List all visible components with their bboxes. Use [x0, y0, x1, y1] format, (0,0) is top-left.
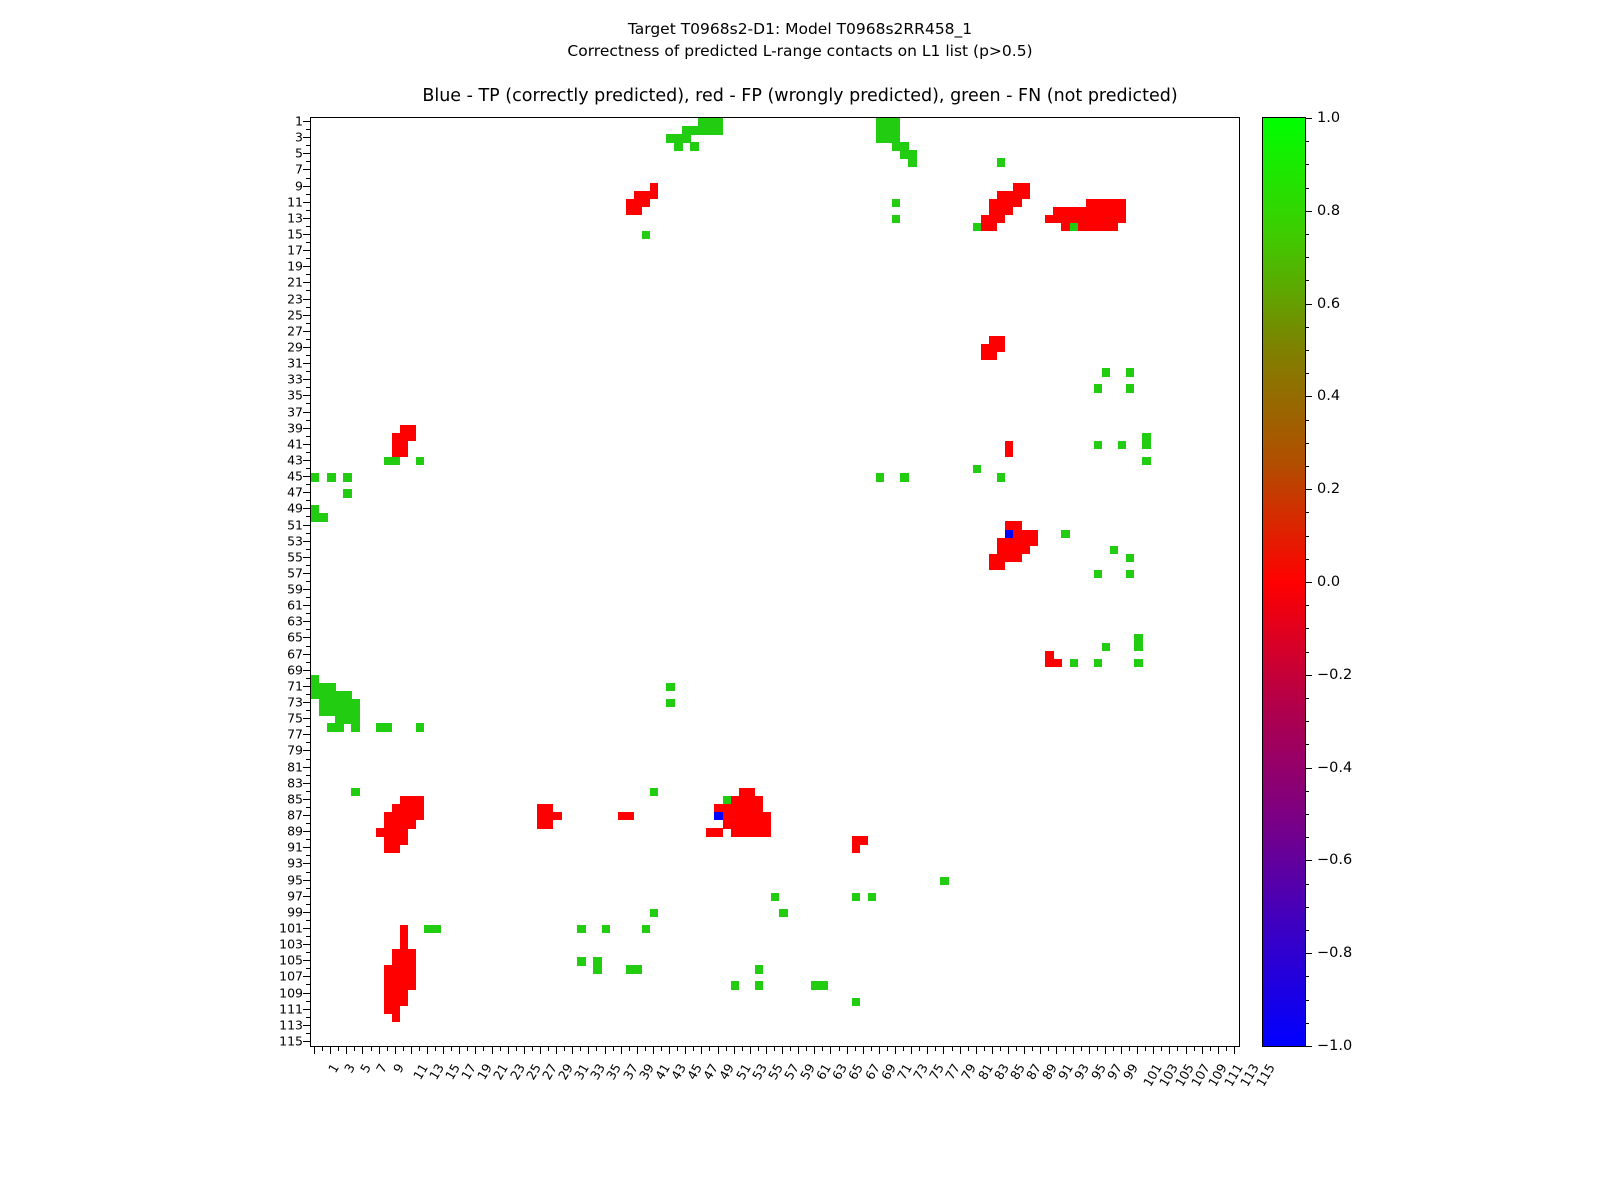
y-axis-tick-label: 109 — [279, 985, 303, 1000]
contact-cell — [1102, 643, 1110, 651]
x-axis-tick-label: 99 — [1120, 1061, 1141, 1082]
contact-cell — [1134, 659, 1142, 667]
y-axis-tick-label: 1 — [295, 114, 303, 129]
y-axis-tick — [303, 880, 310, 881]
y-axis-tick — [303, 637, 310, 638]
y-axis-tick — [303, 815, 310, 816]
y-axis-tick — [303, 153, 310, 154]
title-line-1: Target T0968s2-D1: Model T0968s2RR458_1 — [0, 18, 1600, 40]
contact-cell — [674, 142, 682, 150]
x-axis-tick — [758, 1047, 759, 1051]
contact-cell — [593, 957, 601, 974]
x-axis-tick — [1065, 1047, 1066, 1051]
contact-cell — [876, 473, 884, 481]
contact-cell — [343, 473, 351, 481]
contact-cell — [416, 457, 424, 465]
y-axis-tick-label: 115 — [279, 1033, 303, 1048]
contact-cells-layer — [311, 118, 1239, 1046]
colorbar-minor-tick — [1306, 744, 1309, 745]
contact-cell — [311, 513, 328, 521]
contact-cell — [1126, 570, 1134, 578]
x-axis-tick — [588, 1047, 589, 1054]
x-axis-tick — [1105, 1047, 1106, 1054]
x-axis-tick — [1129, 1047, 1130, 1051]
y-axis-tick — [303, 331, 310, 332]
contact-cell — [424, 925, 441, 933]
y-axis-tick — [303, 444, 310, 445]
y-axis-tick — [303, 1025, 310, 1026]
contact-cell — [868, 893, 876, 901]
x-axis-tick — [887, 1047, 888, 1051]
y-axis-tick-label: 85 — [287, 791, 303, 806]
x-axis-tick — [919, 1047, 920, 1051]
colorbar-minor-tick — [1306, 1000, 1309, 1001]
contact-cell — [731, 828, 772, 836]
x-axis-tick — [605, 1047, 606, 1054]
colorbar-tick-label: −0.8 — [1317, 945, 1352, 961]
contact-cell — [384, 457, 401, 465]
y-axis-tick-label: 93 — [287, 856, 303, 871]
x-axis-tick — [346, 1047, 347, 1054]
x-axis-tick — [1040, 1047, 1041, 1054]
x-axis-tick — [895, 1047, 896, 1054]
contact-cell — [1094, 570, 1102, 578]
y-axis-tick — [303, 525, 310, 526]
contact-cell — [327, 473, 335, 481]
contact-cell — [1142, 433, 1150, 450]
x-axis-tick-label: 9 — [390, 1061, 407, 1075]
x-axis-tick — [1073, 1047, 1074, 1054]
y-axis-tick-label: 17 — [287, 243, 303, 258]
contact-cell — [892, 199, 900, 207]
x-axis-tick — [1121, 1047, 1122, 1054]
contact-cell — [416, 723, 424, 731]
contact-cell — [343, 489, 351, 497]
x-axis-tick — [475, 1047, 476, 1054]
contact-cell — [714, 118, 722, 135]
colorbar-minor-tick — [1306, 976, 1309, 977]
x-axis-tick — [952, 1047, 953, 1051]
x-axis-tick — [419, 1047, 420, 1051]
y-axis-tick-label: 73 — [287, 695, 303, 710]
y-axis-tick — [303, 783, 310, 784]
x-axis-tick — [500, 1047, 501, 1051]
contact-cell — [1110, 546, 1118, 554]
x-axis-tick — [314, 1047, 315, 1054]
x-axis-tick — [1048, 1047, 1049, 1051]
x-axis-tick — [1177, 1047, 1178, 1051]
y-axis-tick-label: 51 — [287, 517, 303, 532]
contact-cell — [690, 142, 698, 150]
y-axis-tick — [303, 266, 310, 267]
y-axis-tick — [303, 589, 310, 590]
y-axis-tick — [303, 492, 310, 493]
y-axis-tick — [303, 541, 310, 542]
x-axis-tick — [354, 1047, 355, 1051]
contact-cell — [577, 925, 585, 933]
x-axis-tick — [1000, 1047, 1001, 1051]
contact-cell — [900, 473, 908, 481]
x-axis-tick — [976, 1047, 977, 1054]
colorbar-minor-tick — [1306, 768, 1309, 769]
contact-cell — [1126, 384, 1134, 392]
y-axis-tick-label: 47 — [287, 485, 303, 500]
contact-cell — [997, 473, 1005, 481]
colorbar-gradient — [1262, 117, 1306, 1047]
contact-cell — [650, 909, 658, 917]
x-axis-tick — [790, 1047, 791, 1051]
x-axis-tick — [677, 1047, 678, 1051]
colorbar-minor-tick — [1306, 188, 1309, 189]
colorbar-tick-label: 0.6 — [1317, 296, 1340, 312]
colorbar-minor-tick — [1306, 234, 1309, 235]
y-axis-tick-label: 25 — [287, 307, 303, 322]
y-axis-tick-label: 3 — [295, 130, 303, 145]
x-axis-tick — [669, 1047, 670, 1054]
colorbar-tick-label: 0.0 — [1317, 574, 1340, 590]
x-axis-tick — [1113, 1047, 1114, 1051]
y-axis-tick-label: 35 — [287, 388, 303, 403]
y-axis-tick — [303, 379, 310, 380]
x-axis-tick — [459, 1047, 460, 1054]
contact-cell — [537, 820, 554, 828]
colorbar-minor-tick — [1306, 280, 1309, 281]
y-axis-tick-label: 99 — [287, 904, 303, 919]
contact-cell — [755, 981, 763, 989]
x-axis-tick — [879, 1047, 880, 1054]
y-axis-tick — [303, 912, 310, 913]
y-axis-tick — [303, 896, 310, 897]
x-axis-tick — [960, 1047, 961, 1054]
contact-cell — [666, 699, 674, 707]
y-axis-tick-label: 79 — [287, 743, 303, 758]
contact-cell — [940, 877, 948, 885]
colorbar-tick-label: 0.8 — [1317, 203, 1340, 219]
colorbar-minor-tick — [1306, 605, 1309, 606]
y-axis-tick — [303, 218, 310, 219]
colorbar-tick-label: −1.0 — [1317, 1038, 1352, 1054]
x-axis-tick — [871, 1047, 872, 1051]
contact-cell — [997, 158, 1005, 166]
contact-cell — [327, 723, 344, 731]
x-axis-tick — [492, 1047, 493, 1054]
x-axis-tick — [338, 1047, 339, 1051]
x-axis-tick — [613, 1047, 614, 1051]
y-axis-tick-label: 103 — [279, 937, 303, 952]
colorbar-tick-label: −0.6 — [1317, 852, 1352, 868]
y-axis-tick — [303, 863, 310, 864]
y-axis-tick — [303, 395, 310, 396]
y-axis-tick — [303, 234, 310, 235]
y-axis-tick-label: 87 — [287, 808, 303, 823]
x-axis-tick — [1226, 1047, 1227, 1051]
x-axis-tick — [693, 1047, 694, 1051]
y-axis-tick-label: 53 — [287, 533, 303, 548]
y-axis-tick-label: 49 — [287, 501, 303, 516]
x-axis-tick — [911, 1047, 912, 1054]
colorbar-minor-tick — [1306, 118, 1309, 119]
contact-cell — [706, 828, 723, 836]
contact-cell — [626, 207, 643, 215]
x-axis-tick — [330, 1047, 331, 1054]
x-axis-tick — [572, 1047, 573, 1054]
x-axis-tick — [532, 1047, 533, 1051]
x-axis-tick — [1161, 1047, 1162, 1051]
colorbar-minor-tick — [1306, 791, 1309, 792]
colorbar-minor-tick — [1306, 1046, 1309, 1047]
x-axis-tick — [427, 1047, 428, 1054]
y-axis-tick-label: 75 — [287, 711, 303, 726]
y-axis-tick — [303, 750, 310, 751]
y-axis-tick-label: 113 — [279, 1017, 303, 1032]
x-axis-tick — [322, 1047, 323, 1051]
y-axis-tick — [303, 347, 310, 348]
y-axis-tick-label: 63 — [287, 614, 303, 629]
x-axis-tick — [637, 1047, 638, 1054]
y-axis-tick-label: 41 — [287, 436, 303, 451]
contact-cell — [892, 215, 900, 223]
y-axis-tick — [303, 976, 310, 977]
x-axis-tick — [564, 1047, 565, 1051]
colorbar-minor-tick — [1306, 930, 1309, 931]
y-axis-tick — [303, 250, 310, 251]
y-axis-tick — [303, 960, 310, 961]
x-axis-tick — [371, 1047, 372, 1051]
x-axis-tick — [943, 1047, 944, 1054]
x-axis-tick — [580, 1047, 581, 1051]
y-axis-tick — [303, 299, 310, 300]
colorbar-minor-tick — [1306, 512, 1309, 513]
y-axis-tick — [303, 605, 310, 606]
colorbar-minor-tick — [1306, 559, 1309, 560]
y-axis-tick-label: 11 — [287, 194, 303, 209]
x-axis-tick — [774, 1047, 775, 1051]
contact-cell — [1134, 643, 1142, 651]
colorbar-minor-tick — [1306, 721, 1309, 722]
y-axis-tick — [303, 734, 310, 735]
contact-cell — [811, 981, 828, 989]
y-axis-tick-label: 23 — [287, 291, 303, 306]
colorbar-minor-tick — [1306, 698, 1309, 699]
x-axis-tick — [750, 1047, 751, 1054]
y-axis-tick — [303, 169, 310, 170]
colorbar-minor-tick — [1306, 466, 1309, 467]
y-axis-tick-label: 57 — [287, 565, 303, 580]
x-axis-tick — [903, 1047, 904, 1051]
y-axis-tick-label: 101 — [279, 920, 303, 935]
plot-subtitle-legend: Blue - TP (correctly predicted), red - F… — [0, 86, 1600, 106]
x-axis-tick — [1097, 1047, 1098, 1051]
x-axis-tick — [508, 1047, 509, 1054]
y-axis-tick — [303, 621, 310, 622]
contact-cell — [908, 158, 916, 166]
y-axis-tick-label: 67 — [287, 646, 303, 661]
x-axis-tick — [1234, 1047, 1235, 1054]
y-axis-tick-label: 45 — [287, 469, 303, 484]
colorbar-minor-tick — [1306, 652, 1309, 653]
y-axis-tick-label: 59 — [287, 582, 303, 597]
contact-cell — [311, 473, 319, 481]
x-axis-tick — [403, 1047, 404, 1051]
contact-cell — [1045, 659, 1062, 667]
contact-cell — [852, 893, 860, 901]
y-axis-tick-label: 91 — [287, 840, 303, 855]
colorbar-minor-tick — [1306, 489, 1309, 490]
x-axis-tick — [814, 1047, 815, 1054]
colorbar-minor-tick — [1306, 211, 1309, 212]
x-axis-tick — [435, 1047, 436, 1051]
y-axis-tick — [303, 767, 310, 768]
y-axis-tick — [303, 573, 310, 574]
y-axis-tick-label: 55 — [287, 549, 303, 564]
contact-cell — [771, 893, 779, 901]
y-axis-tick-label: 65 — [287, 630, 303, 645]
x-axis-tick — [1056, 1047, 1057, 1054]
colorbar-minor-tick — [1306, 373, 1309, 374]
contact-cell — [1126, 368, 1134, 376]
y-axis-tick-label: 83 — [287, 775, 303, 790]
contact-cell — [626, 965, 643, 973]
x-axis: 1357911131517192123252729313335373941434… — [310, 1047, 1240, 1157]
x-axis-tick — [927, 1047, 928, 1054]
colorbar-minor-tick — [1306, 628, 1309, 629]
contact-cell — [973, 465, 981, 473]
y-axis-tick-label: 97 — [287, 888, 303, 903]
contact-map-plot[interactable] — [310, 117, 1240, 1047]
y-axis-tick — [303, 508, 310, 509]
contact-cell — [981, 352, 998, 360]
x-axis-tick — [782, 1047, 783, 1054]
y-axis-tick-label: 105 — [279, 953, 303, 968]
y-axis-tick — [303, 1041, 310, 1042]
x-axis-tick — [483, 1047, 484, 1051]
y-axis-tick — [303, 654, 310, 655]
y-axis-tick — [303, 186, 310, 187]
y-axis-tick — [303, 363, 310, 364]
contact-cell — [1118, 441, 1126, 449]
y-axis-tick — [303, 202, 310, 203]
y-axis-tick-label: 13 — [287, 210, 303, 225]
colorbar-minor-tick — [1306, 141, 1309, 142]
x-axis-tick — [395, 1047, 396, 1054]
x-axis-tick — [362, 1047, 363, 1054]
x-axis-tick — [596, 1047, 597, 1051]
x-axis-tick — [830, 1047, 831, 1054]
y-axis-tick-label: 111 — [279, 1001, 303, 1016]
contact-cell — [666, 683, 674, 691]
y-axis-tick-label: 107 — [279, 969, 303, 984]
contact-cell — [602, 925, 610, 933]
y-axis-tick — [303, 412, 310, 413]
y-axis-tick — [303, 831, 310, 832]
x-axis-tick — [411, 1047, 412, 1054]
colorbar-minor-tick — [1306, 164, 1309, 165]
contact-cell — [1070, 223, 1078, 231]
y-axis-tick-label: 19 — [287, 259, 303, 274]
colorbar-minor-tick — [1306, 350, 1309, 351]
y-axis-tick-label: 77 — [287, 727, 303, 742]
y-axis-tick-label: 61 — [287, 598, 303, 613]
y-axis-tick — [303, 670, 310, 671]
x-axis-tick — [968, 1047, 969, 1051]
x-axis-tick — [1145, 1047, 1146, 1051]
y-axis-tick-label: 29 — [287, 339, 303, 354]
x-axis-tick-label: 5 — [357, 1061, 374, 1075]
colorbar-minor-tick — [1306, 327, 1309, 328]
x-axis-tick — [1186, 1047, 1187, 1054]
colorbar-minor-tick — [1306, 675, 1309, 676]
x-axis-tick — [548, 1047, 549, 1051]
x-axis-tick — [709, 1047, 710, 1051]
x-axis-tick — [645, 1047, 646, 1051]
colorbar-minor-tick — [1306, 814, 1309, 815]
contact-cell — [392, 1014, 400, 1022]
y-axis-tick — [303, 799, 310, 800]
colorbar-minor-tick — [1306, 536, 1309, 537]
y-axis-tick — [303, 928, 310, 929]
y-axis-tick — [303, 460, 310, 461]
colorbar-tick-label: −0.2 — [1317, 667, 1352, 683]
x-axis-tick — [556, 1047, 557, 1054]
x-axis-tick — [387, 1047, 388, 1051]
contact-cell — [731, 981, 739, 989]
x-axis-tick — [742, 1047, 743, 1051]
x-axis-tick — [992, 1047, 993, 1054]
contact-cell — [852, 844, 860, 852]
contact-cell — [642, 231, 650, 239]
x-axis-tick — [1016, 1047, 1017, 1051]
contact-cell — [376, 723, 393, 731]
x-axis-tick — [1210, 1047, 1211, 1051]
x-axis-tick — [766, 1047, 767, 1054]
x-axis-tick — [1008, 1047, 1009, 1054]
contact-cell — [351, 723, 359, 731]
colorbar-axis: 1.00.80.60.40.20.0−0.2−0.4−0.6−0.8−1.0 — [1306, 117, 1376, 1047]
y-axis-tick — [303, 137, 310, 138]
x-axis-tick — [1032, 1047, 1033, 1051]
colorbar-minor-tick — [1306, 953, 1309, 954]
y-axis-tick-label: 95 — [287, 872, 303, 887]
x-axis-tick-label: 3 — [341, 1061, 358, 1075]
x-axis-tick — [718, 1047, 719, 1054]
y-axis-tick-label: 43 — [287, 452, 303, 467]
x-axis-tick — [935, 1047, 936, 1051]
colorbar-minor-tick — [1306, 1023, 1309, 1024]
x-axis-tick — [734, 1047, 735, 1054]
y-axis-tick — [303, 686, 310, 687]
x-axis-tick — [1218, 1047, 1219, 1054]
x-axis-tick — [685, 1047, 686, 1054]
x-axis-tick — [1202, 1047, 1203, 1054]
y-axis-tick-label: 5 — [295, 146, 303, 161]
contact-cell — [1126, 554, 1134, 562]
y-axis-tick-label: 15 — [287, 227, 303, 242]
colorbar-minor-tick — [1306, 907, 1309, 908]
colorbar-minor-tick — [1306, 257, 1309, 258]
y-axis: 1357911131517192123252729313335373941434… — [270, 117, 310, 1047]
colorbar-tick-label: 1.0 — [1317, 110, 1340, 126]
y-axis-tick — [303, 315, 310, 316]
colorbar-minor-tick — [1306, 443, 1309, 444]
y-axis-tick-label: 9 — [295, 178, 303, 193]
contact-cell — [989, 562, 1006, 570]
colorbar-minor-tick — [1306, 582, 1309, 583]
colorbar-tick-label: 0.2 — [1317, 481, 1340, 497]
contact-cell — [1061, 530, 1069, 538]
x-axis-tick — [443, 1047, 444, 1054]
contact-cell — [384, 844, 401, 852]
y-axis-tick — [303, 282, 310, 283]
